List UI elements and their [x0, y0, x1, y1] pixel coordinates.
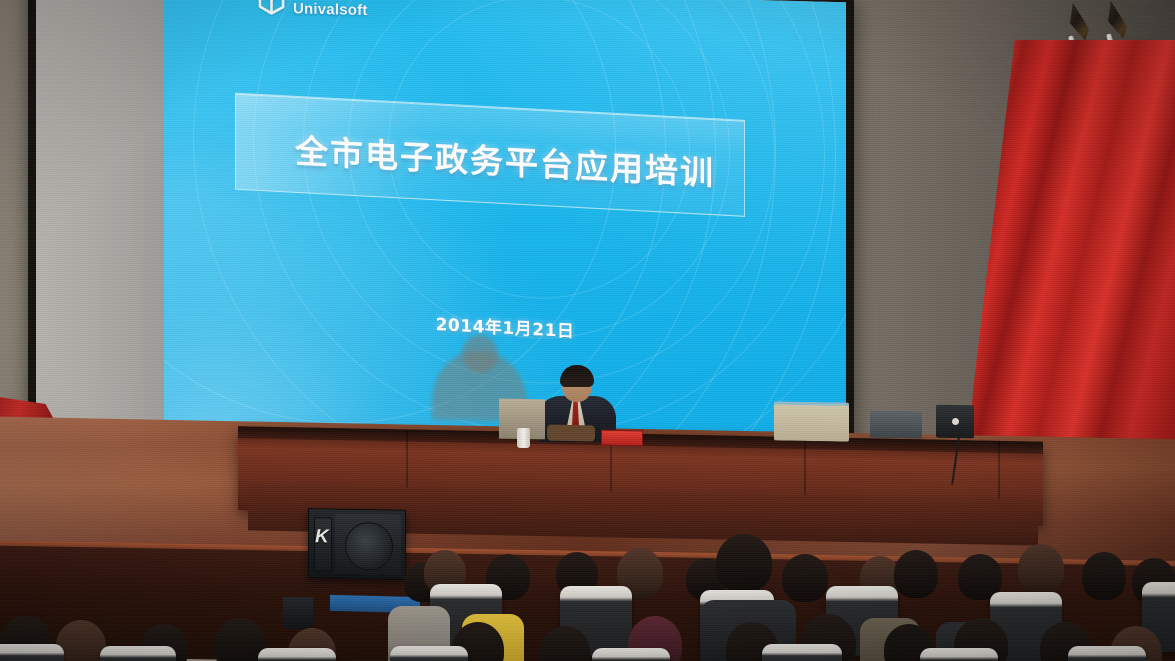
- chair-back: [547, 425, 595, 442]
- theater-seat: [390, 646, 468, 661]
- projection-screen-surface: 环球软件 ® Univalsoft 全市电子政务平台应用培训 2014年1月21…: [36, 0, 846, 438]
- equipment-box: [774, 401, 849, 441]
- audience-seating: [0, 520, 1175, 661]
- logo-en-name: Univalsoft: [293, 1, 368, 18]
- water-cup: [517, 428, 530, 448]
- red-nameplate: [601, 430, 643, 447]
- photograph-scene: 环球软件 ® Univalsoft 全市电子政务平台应用培训 2014年1月21…: [0, 0, 1175, 661]
- projection-screen-frame: 环球软件 ® Univalsoft 全市电子政务平台应用培训 2014年1月21…: [28, 0, 854, 446]
- presentation-slide: 环球软件 ® Univalsoft 全市电子政务平台应用培训 2014年1月21…: [164, 0, 846, 438]
- theater-seat: [100, 646, 176, 661]
- presenter-glasses-icon: [563, 383, 591, 389]
- theater-seat: [1068, 646, 1146, 661]
- laptop: [870, 411, 922, 439]
- company-logo: 环球软件 ® Univalsoft: [255, 0, 415, 25]
- audience-seat-row-2: [0, 628, 1175, 661]
- theater-seat: [592, 648, 670, 661]
- theater-seat: [920, 648, 998, 661]
- theater-seat: [258, 648, 336, 661]
- theater-seat: [0, 644, 64, 661]
- black-equipment-unit: [936, 405, 974, 439]
- screen-unlit-margin: [36, 0, 164, 421]
- logo-text-block: 环球软件 ® Univalsoft: [293, 0, 368, 18]
- theater-seat: [762, 644, 842, 661]
- cube-logo-icon: [255, 0, 288, 17]
